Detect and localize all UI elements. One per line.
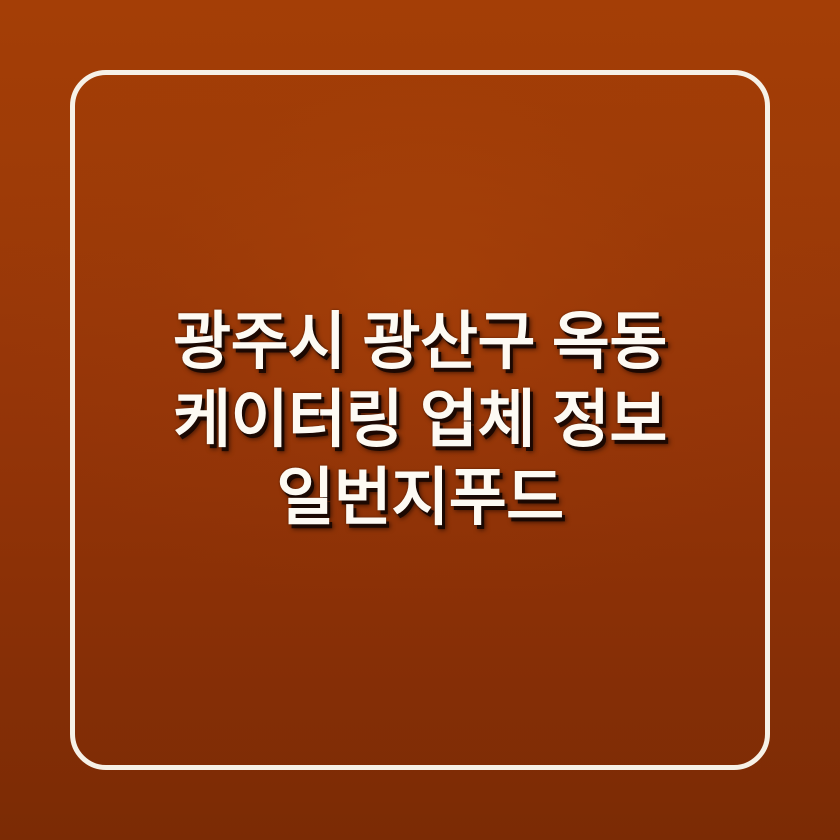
title-line-business-name: 일번지푸드 — [96, 459, 744, 537]
page-title: 광주시 광산구 옥동 케이터링 업체 정보 일번지푸드 — [0, 0, 840, 840]
poster-canvas: 광주시 광산구 옥동 케이터링 업체 정보 일번지푸드 — [0, 0, 840, 840]
title-line-category: 케이터링 업체 정보 — [96, 381, 744, 459]
title-line-location: 광주시 광산구 옥동 — [96, 303, 744, 381]
